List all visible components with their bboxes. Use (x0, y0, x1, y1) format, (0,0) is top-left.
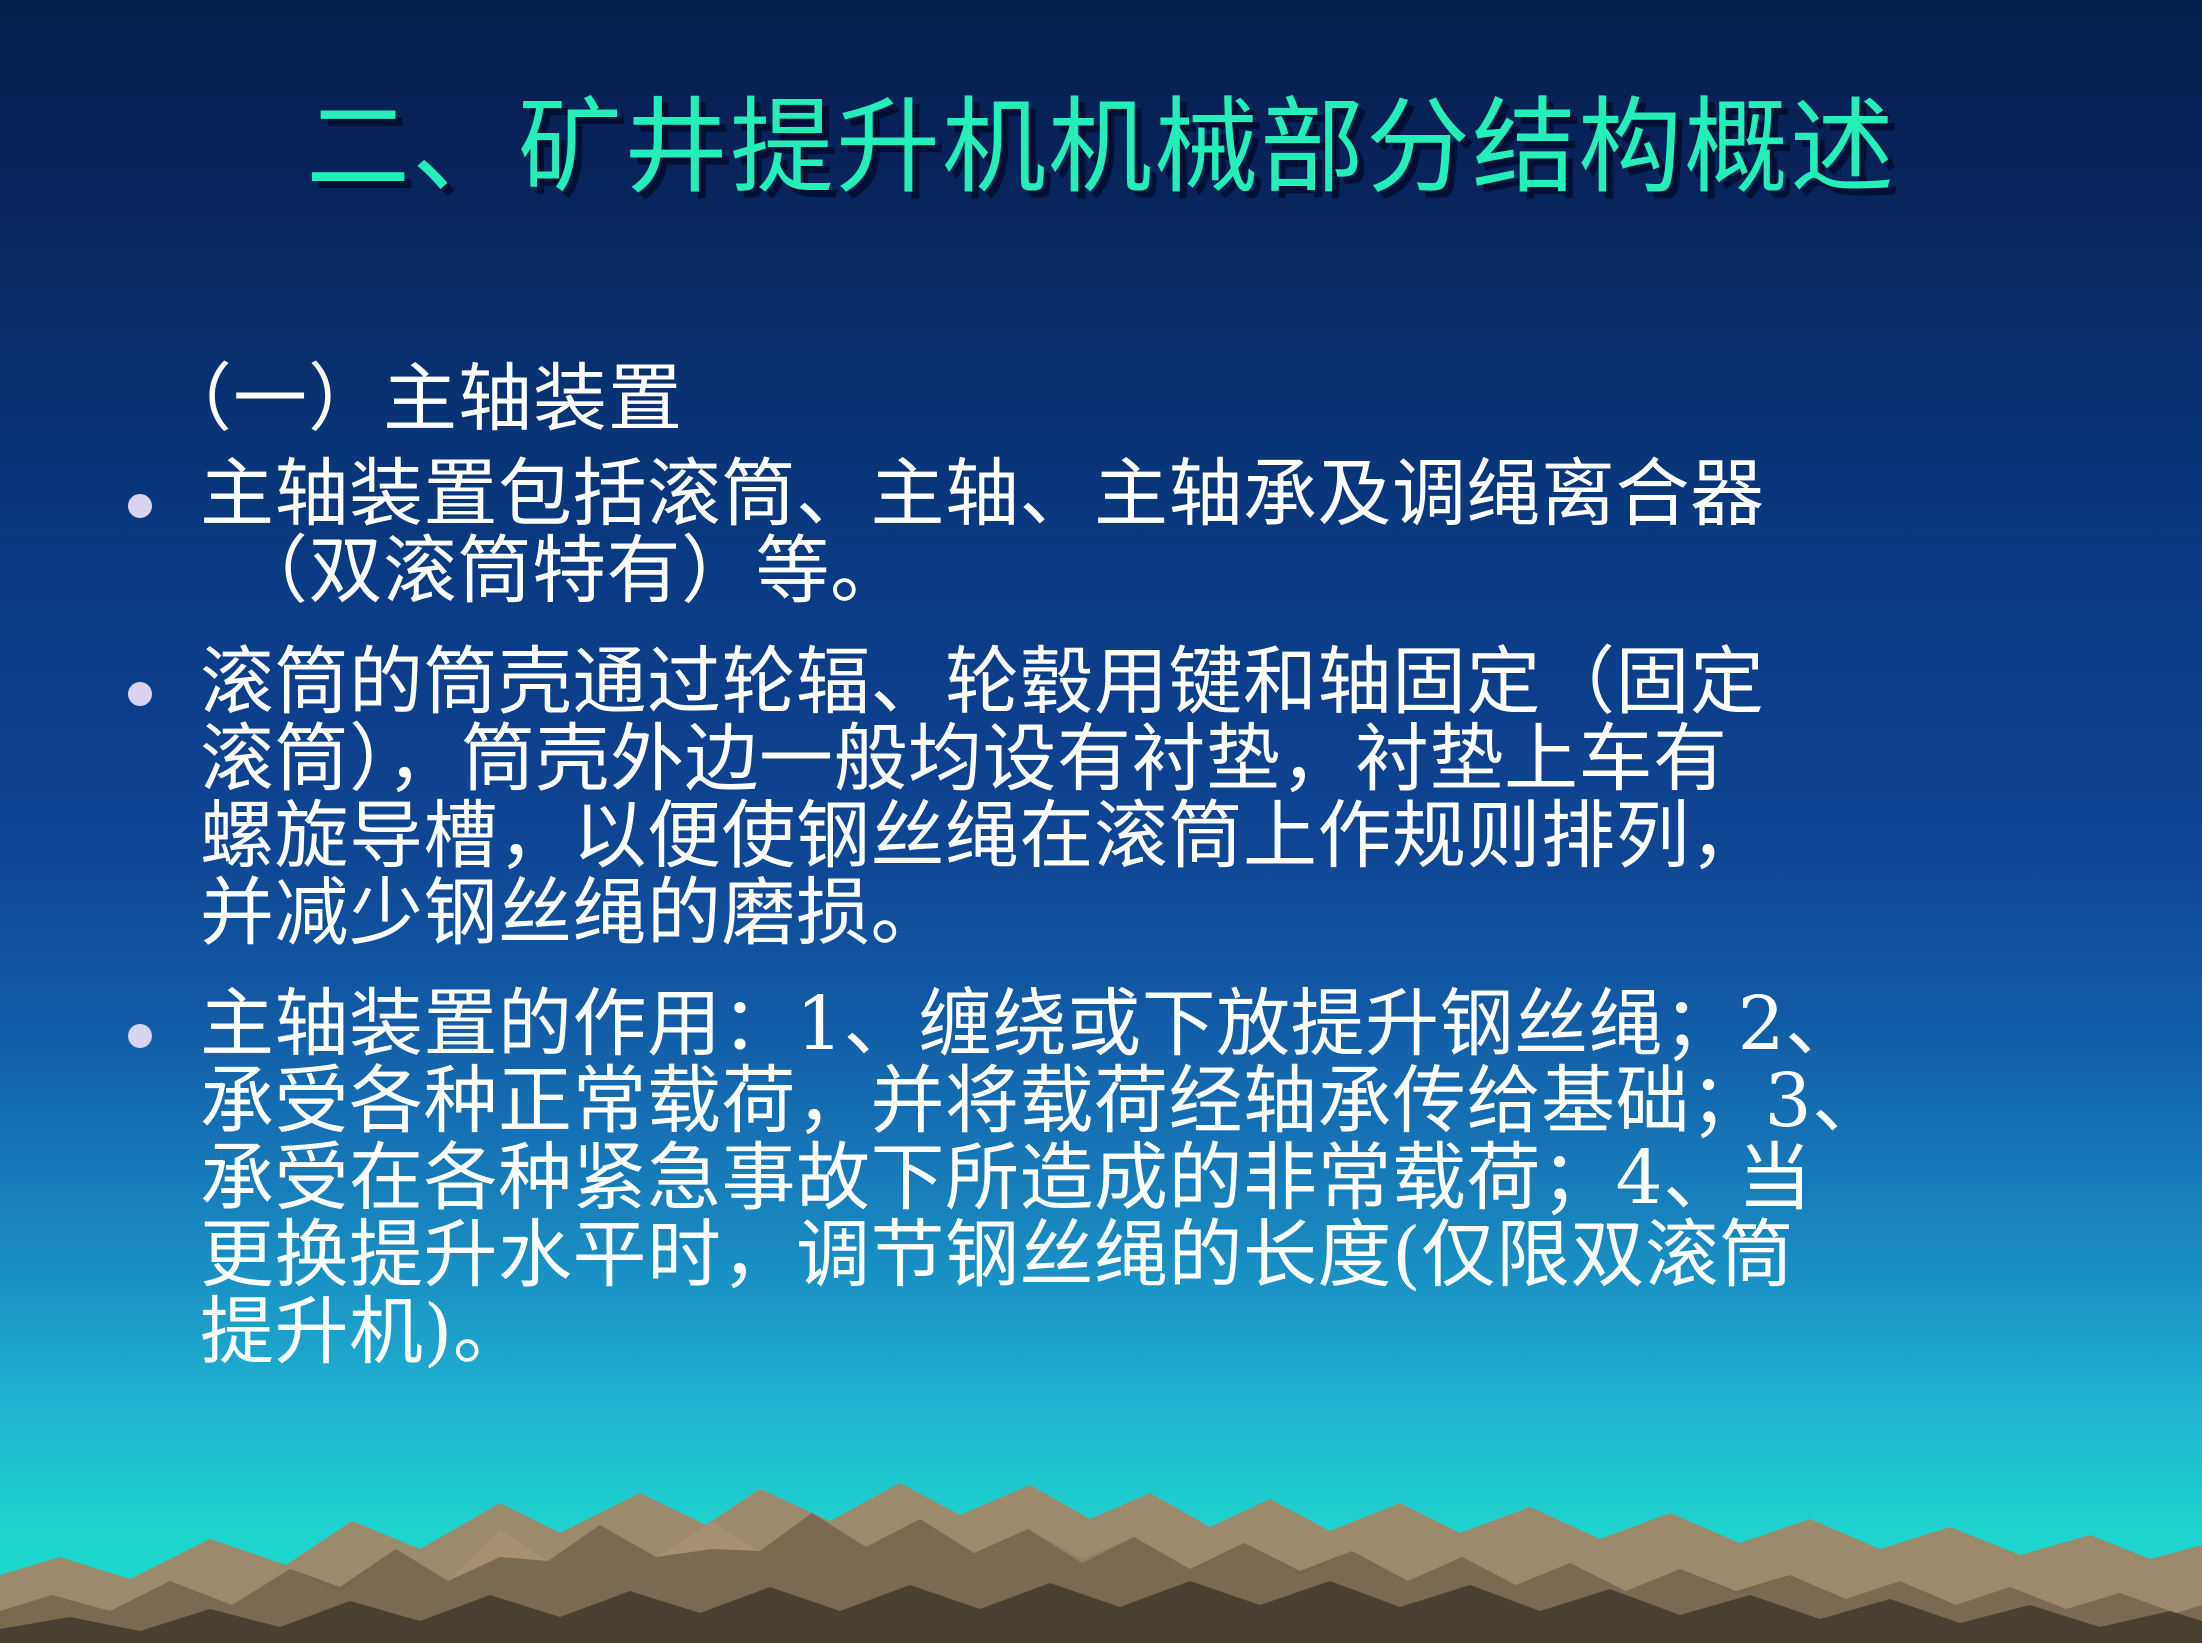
bullet-line: 滚筒），筒壳外边一般均设有衬垫，衬垫上车有 (200, 721, 2120, 798)
bullet-line: 主轴装置包括滚筒、主轴、主轴承及调绳离合器 (200, 456, 2120, 533)
list-item: 滚筒的筒壳通过轮辐、轮毂用键和轴固定（固定 滚筒），筒壳外边一般均设有衬垫，衬垫… (110, 644, 2120, 952)
bullet-line: 螺旋导槽，以便使钢丝绳在滚筒上作规则排列， (200, 798, 2120, 875)
presentation-slide: 二、矿井提升机机械部分结构概述 （一）主轴装置 主轴装置包括滚筒、主轴、主轴承及… (0, 0, 2202, 1643)
bullet-line: 更换提升水平时，调节钢丝绳的长度(仅限双滚筒 (200, 1217, 2120, 1294)
bullet-line: 并减少钢丝绳的磨损。 (200, 875, 2120, 952)
slide-title-container: 二、矿井提升机机械部分结构概述 (0, 90, 2202, 204)
page-title: 二、矿井提升机机械部分结构概述 (306, 90, 1896, 204)
list-item: 主轴装置包括滚筒、主轴、主轴承及调绳离合器 （双滚筒特有）等。 (110, 456, 2120, 610)
bullet-dot-icon (128, 682, 152, 706)
mountain-decoration (0, 1343, 2202, 1643)
bullet-line: 承受各种正常载荷，并将载荷经轴承传给基础；3、 (200, 1063, 2120, 1140)
bullet-line: 承受在各种紧急事故下所造成的非常载荷；4、当 (200, 1140, 2120, 1217)
slide-body: （一）主轴装置 主轴装置包括滚筒、主轴、主轴承及调绳离合器 （双滚筒特有）等。 … (110, 360, 2120, 1391)
bullet-dot-icon (128, 494, 152, 518)
section-heading: （一）主轴装置 (158, 360, 2120, 438)
bullet-line: （双滚筒特有）等。 (200, 533, 2120, 610)
bullet-line: 滚筒的筒壳通过轮辐、轮毂用键和轴固定（固定 (200, 644, 2120, 721)
list-item: 主轴装置的作用：1、缠绕或下放提升钢丝绳；2、 承受各种正常载荷，并将载荷经轴承… (110, 986, 2120, 1371)
bullet-dot-icon (128, 1024, 152, 1048)
bullet-line: 主轴装置的作用：1、缠绕或下放提升钢丝绳；2、 (200, 986, 2120, 1063)
